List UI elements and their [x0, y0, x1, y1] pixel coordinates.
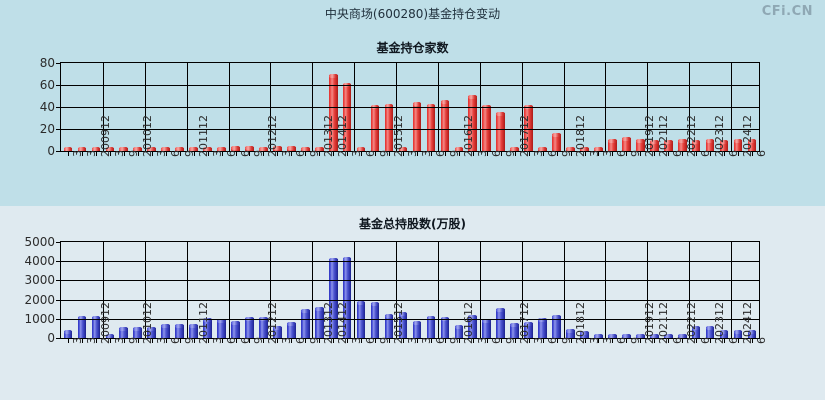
x-axis-label: 201012 [141, 115, 154, 157]
gridline-vertical [354, 242, 355, 338]
gridline-vertical [480, 63, 481, 151]
gridline-vertical [229, 63, 230, 151]
x-axis-label: 3 [155, 337, 168, 344]
bar-item[interactable] [441, 242, 450, 338]
bar-item[interactable] [608, 242, 617, 338]
y-axis-label: 20 [40, 122, 61, 136]
x-axis-label: 9 [448, 337, 461, 344]
x-axis-label: 3 [71, 337, 84, 344]
x-axis-label: 9 [183, 150, 196, 157]
bar-item[interactable] [371, 242, 380, 338]
top-chart-title: 基金持仓家数 [0, 39, 825, 56]
bottom-chart-title: 基金总持股数(万股) [0, 215, 825, 232]
x-axis-label: 9 [127, 150, 140, 157]
bar [496, 113, 505, 151]
bar-item[interactable] [496, 242, 505, 338]
x-axis-label: 3 [113, 150, 126, 157]
y-axis-label: 60 [40, 78, 61, 92]
gridline-vertical [480, 242, 481, 338]
bar-item[interactable] [301, 242, 310, 338]
bar [78, 317, 87, 338]
bar-item[interactable] [427, 242, 436, 338]
x-axis-label: 202212 [685, 115, 698, 157]
x-axis-label: 200912 [99, 302, 112, 344]
x-axis-label: 3 [85, 337, 98, 344]
y-axis-label: 0 [47, 331, 61, 345]
gridline-vertical [187, 63, 188, 151]
bar-item[interactable] [287, 242, 296, 338]
x-axis-label: 202312 [713, 115, 726, 157]
y-axis-label: 5000 [24, 235, 61, 249]
bar-item[interactable] [64, 242, 73, 338]
bar [245, 318, 254, 338]
gridline-vertical [187, 242, 188, 338]
x-axis-label: 6 [434, 337, 447, 344]
x-axis-label: 3 [350, 150, 363, 157]
bar [482, 320, 491, 338]
gridline-vertical [564, 63, 565, 151]
gridline-horizontal [61, 107, 759, 108]
x-axis-label: 9 [560, 150, 573, 157]
x-axis-label: 3 [280, 150, 293, 157]
x-axis-label: 6 [225, 337, 238, 344]
x-axis-label: 3 [588, 150, 601, 157]
x-axis-label: 3 [350, 337, 363, 344]
gridline-horizontal [61, 300, 759, 301]
x-axis-label: 6 [699, 150, 712, 157]
x-axis-label: 9 [308, 337, 321, 344]
x-axis-label: 9 [127, 337, 140, 344]
x-axis-label: 6 [615, 337, 628, 344]
x-axis-label: 3 [420, 150, 433, 157]
bar-item[interactable] [594, 242, 603, 338]
x-axis-label: 3 [420, 337, 433, 344]
x-axis-label: 9 [504, 150, 517, 157]
x-axis-label: 201412 [336, 302, 349, 344]
bar-item[interactable] [552, 242, 561, 338]
x-axis-label: 201512 [392, 302, 405, 344]
gridline-vertical [564, 242, 565, 338]
gridline-vertical [354, 63, 355, 151]
x-axis-label: 201112 [197, 115, 210, 157]
x-axis-label: 3 [601, 337, 614, 344]
x-axis-label: 200912 [99, 115, 112, 157]
x-axis-label: 6 [294, 150, 307, 157]
x-axis-label: 9 [183, 337, 196, 344]
gridline-horizontal [61, 280, 759, 281]
bar-item[interactable] [622, 242, 631, 338]
x-axis-label: 9 [308, 150, 321, 157]
x-axis-label: 9 [378, 150, 391, 157]
x-axis-label: 6 [239, 150, 252, 157]
y-axis-label: 40 [40, 100, 61, 114]
x-axis-label: 201512 [392, 115, 405, 157]
x-axis-label: 6 [615, 150, 628, 157]
y-axis-label: 3000 [24, 273, 61, 287]
x-axis-label: 3 [476, 150, 489, 157]
bar-item[interactable] [78, 242, 87, 338]
x-axis-label: 201712 [518, 115, 531, 157]
x-axis-label: 201312 [322, 302, 335, 344]
x-axis-label: 6 [434, 150, 447, 157]
x-axis-label: 6 [699, 337, 712, 344]
bar-item[interactable] [161, 242, 170, 338]
chart-page: 中央商场(600280)基金持仓变动 CFi.CN 基金持仓家数 基金总持股数(… [0, 0, 825, 400]
x-axis-label: 201612 [462, 115, 475, 157]
bar [371, 303, 380, 338]
bar [441, 101, 450, 152]
x-axis-label: 9 [629, 337, 642, 344]
x-axis-label: 3 [155, 150, 168, 157]
x-axis-tick [68, 338, 69, 343]
bar-item[interactable] [357, 242, 366, 338]
x-axis-label: 3 [113, 337, 126, 344]
gridline-vertical [312, 63, 313, 151]
y-axis-label: 1000 [24, 312, 61, 326]
bar-item[interactable] [119, 242, 128, 338]
x-axis-label: 6 [169, 337, 182, 344]
bar [496, 309, 505, 338]
bar [217, 320, 226, 338]
x-axis-label: 202312 [713, 302, 726, 344]
x-axis-label: 3 [588, 337, 601, 344]
x-axis-label: 3 [211, 150, 224, 157]
x-axis-label: 201112 [197, 302, 210, 344]
x-axis-label: 201912 [643, 302, 656, 344]
x-axis-label: 202112 [657, 302, 670, 344]
x-axis-label: 9 [252, 337, 265, 344]
x-axis-label: 3 [476, 337, 489, 344]
x-axis-label: 3 [71, 150, 84, 157]
x-axis-label: 6 [727, 337, 740, 344]
x-axis-label: 9 [252, 150, 265, 157]
x-axis-label: 6 [239, 337, 252, 344]
bar-item[interactable] [538, 242, 547, 338]
y-axis-label: 80 [40, 56, 61, 70]
x-axis-label: 3 [406, 150, 419, 157]
bar-item[interactable] [175, 242, 184, 338]
bar [301, 310, 310, 338]
x-axis-label: 6 [225, 150, 238, 157]
x-axis-label: 3 [211, 337, 224, 344]
bar [161, 325, 170, 338]
x-axis-label: 9 [560, 337, 573, 344]
gridline-vertical [312, 242, 313, 338]
bar [413, 103, 422, 151]
x-axis-label: 9 [629, 150, 642, 157]
x-axis-label: 201812 [574, 115, 587, 157]
x-axis-label: 6 [755, 150, 768, 157]
gridline-vertical [605, 63, 606, 151]
gridline-horizontal [61, 85, 759, 86]
x-axis-label: 201012 [141, 302, 154, 344]
x-axis-label: 6 [169, 150, 182, 157]
x-axis-label: 9 [378, 337, 391, 344]
x-axis-label: 202112 [657, 115, 670, 157]
x-axis-label: 201412 [336, 115, 349, 157]
bar [287, 323, 296, 338]
bar [552, 134, 561, 152]
x-axis-label: 201712 [518, 302, 531, 344]
x-axis-label: 201912 [643, 115, 656, 157]
x-axis-tick [68, 151, 69, 156]
y-axis-label: 0 [47, 144, 61, 158]
bar [427, 105, 436, 151]
x-axis-label: 202212 [685, 302, 698, 344]
bar-item[interactable] [217, 242, 226, 338]
x-axis-label: 6 [546, 150, 559, 157]
x-axis-label: 201212 [266, 115, 279, 157]
x-axis-label: 6 [490, 150, 503, 157]
y-axis-label: 2000 [24, 293, 61, 307]
gridline-vertical [731, 242, 732, 338]
x-axis-label: 6 [546, 337, 559, 344]
x-axis-label: 201212 [266, 302, 279, 344]
gridline-vertical [438, 63, 439, 151]
x-axis-label: 202412 [741, 302, 754, 344]
x-axis-label: 3 [532, 150, 545, 157]
x-axis-label: 9 [504, 337, 517, 344]
bar-item[interactable] [482, 242, 491, 338]
x-axis-label: 6 [727, 150, 740, 157]
x-axis-label: 6 [294, 337, 307, 344]
x-axis-label: 202412 [741, 115, 754, 157]
gridline-vertical [731, 63, 732, 151]
y-axis-label: 4000 [24, 254, 61, 268]
bar [231, 322, 240, 338]
bar [357, 302, 366, 338]
bar [538, 319, 547, 338]
x-axis-label: 6 [755, 337, 768, 344]
bar [413, 322, 422, 338]
x-axis-label: 6 [671, 337, 684, 344]
x-axis-label: 3 [532, 337, 545, 344]
x-axis-label: 9 [448, 150, 461, 157]
gridline-vertical [605, 242, 606, 338]
x-axis-label: 6 [671, 150, 684, 157]
x-axis-label: 6 [364, 337, 377, 344]
x-axis-label: 201312 [322, 115, 335, 157]
gridline-vertical [229, 242, 230, 338]
bar-item[interactable] [245, 242, 254, 338]
gridline-vertical [438, 242, 439, 338]
x-axis-label: 6 [490, 337, 503, 344]
bar [427, 317, 436, 338]
bar-item[interactable] [413, 242, 422, 338]
x-axis-label: 6 [364, 150, 377, 157]
x-axis-label: 3 [85, 150, 98, 157]
x-axis-label: 201612 [462, 302, 475, 344]
bar [441, 318, 450, 338]
gridline-horizontal [61, 261, 759, 262]
x-axis-label: 201812 [574, 302, 587, 344]
watermark-label: CFi.CN [762, 4, 813, 19]
bar-item[interactable] [231, 242, 240, 338]
x-axis-label: 3 [280, 337, 293, 344]
x-axis-label: 3 [601, 150, 614, 157]
page-title: 中央商场(600280)基金持仓变动 [0, 5, 825, 22]
x-axis-label: 3 [406, 337, 419, 344]
